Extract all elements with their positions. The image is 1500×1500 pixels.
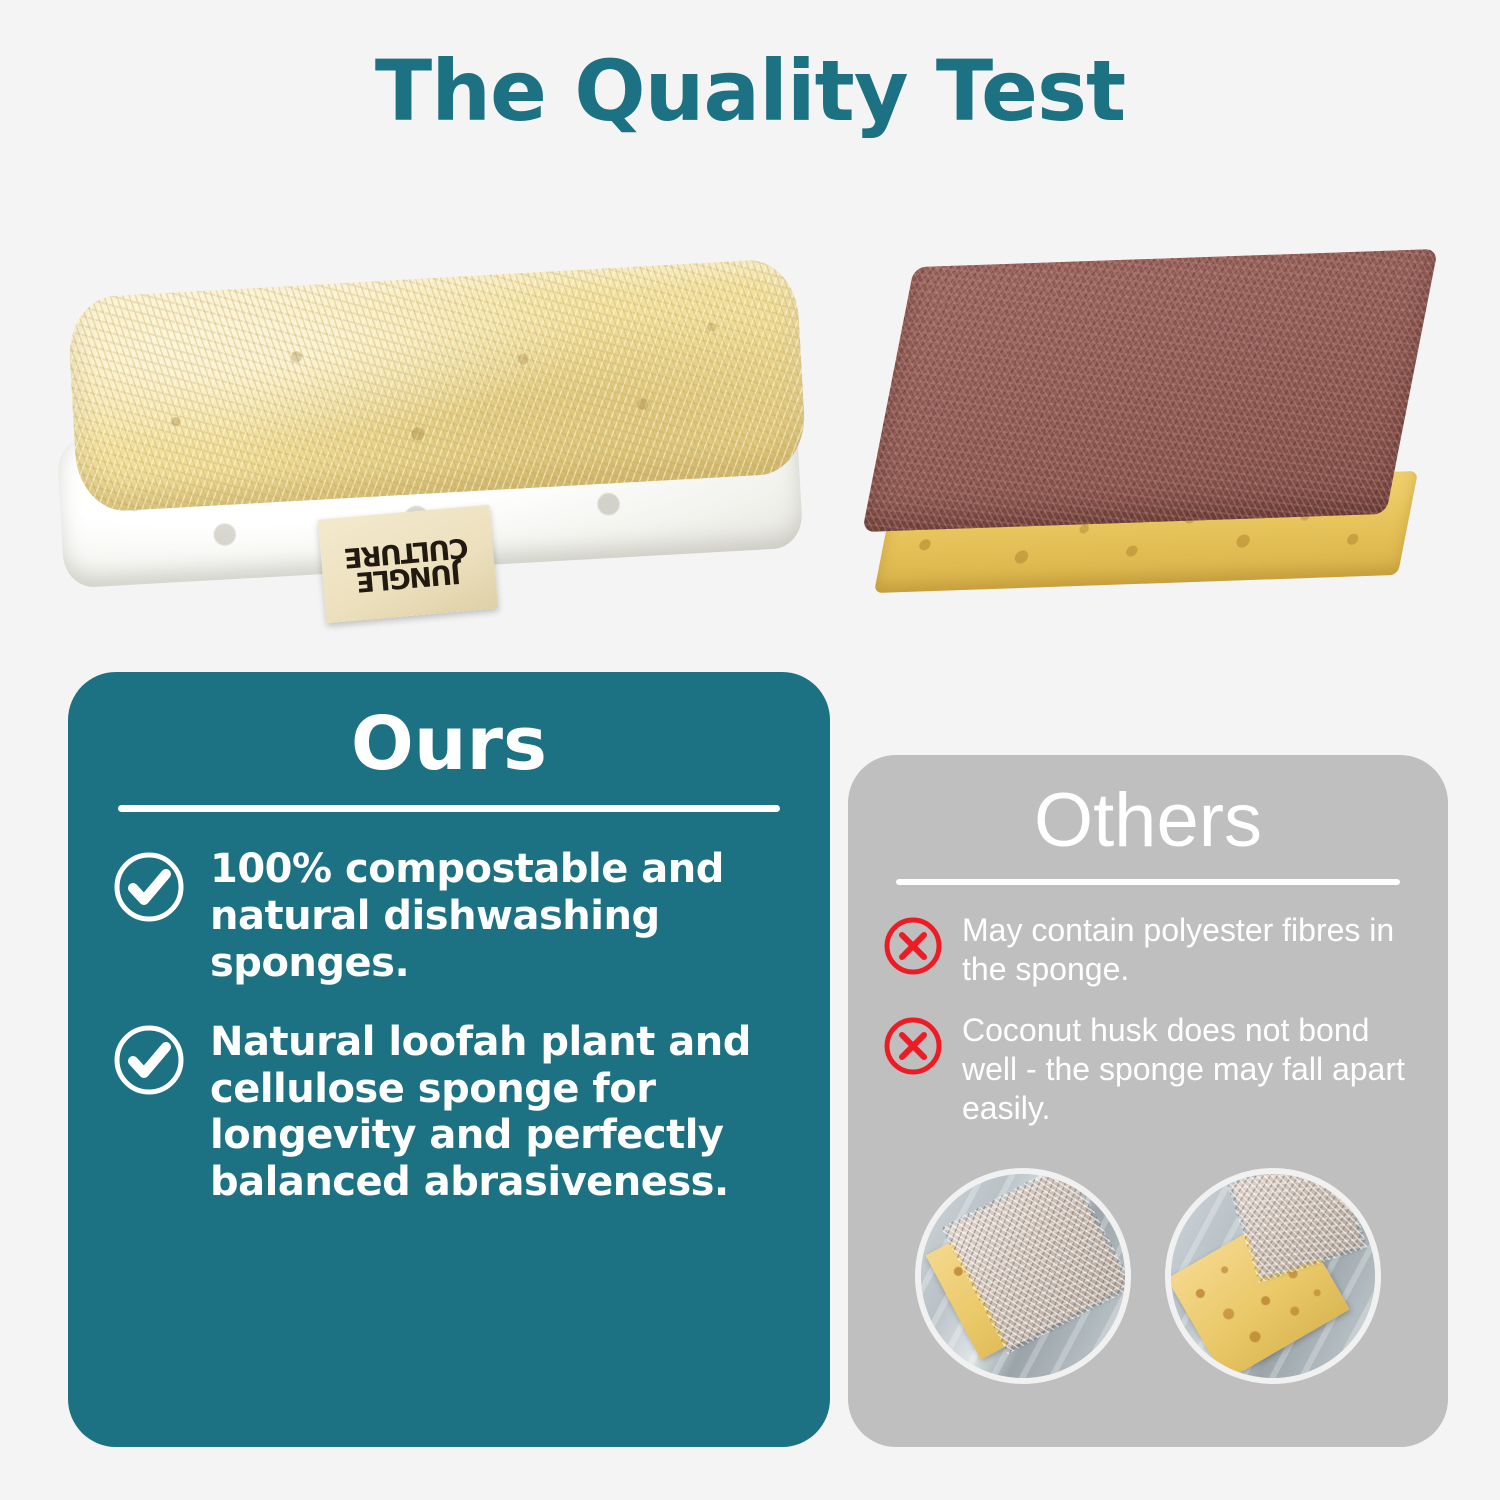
check-circle-icon [112, 850, 186, 924]
x-circle-icon [882, 915, 944, 977]
ours-list-item-text: Natural loofah plant and cellulose spong… [210, 1019, 786, 1206]
x-circle-icon [882, 1015, 944, 1077]
evidence-photo-group [882, 1168, 1414, 1384]
ours-list-item: 100% compostable and natural dishwashing… [112, 846, 786, 986]
ours-panel-divider [118, 805, 780, 812]
ours-panel: Ours 100% compostable and natural dishwa… [68, 672, 830, 1447]
others-panel-divider [896, 879, 1400, 885]
product-comparison-photos: JUNGLE CULTURE VS [0, 210, 1500, 660]
others-panel-heading: Others [882, 781, 1414, 861]
others-list-item-text: May contain polyester fibres in the spon… [962, 911, 1414, 989]
ours-panel-heading: Ours [112, 704, 786, 785]
ours-list-item: Natural loofah plant and cellulose spong… [112, 1019, 786, 1206]
brand-tag: JUNGLE CULTURE [318, 505, 498, 624]
others-list-item-text: Coconut husk does not bond well - the sp… [962, 1011, 1414, 1128]
evidence-photo-1 [915, 1168, 1131, 1384]
brand-tag-text: JUNGLE CULTURE [344, 534, 471, 594]
evidence-photo-2 [1165, 1168, 1381, 1384]
page-title: The Quality Test [0, 42, 1500, 140]
ours-list-item-text: 100% compostable and natural dishwashing… [210, 846, 786, 986]
check-circle-icon [112, 1023, 186, 1097]
others-panel: Others May contain polyester fibres in t… [848, 755, 1448, 1447]
ours-sponge-photo: JUNGLE CULTURE [42, 240, 832, 640]
others-list-item: Coconut husk does not bond well - the sp… [882, 1011, 1414, 1128]
loofah-scrub-layer [67, 258, 808, 513]
coir-scrub-layer [862, 249, 1438, 532]
others-sponge-photo [880, 228, 1440, 628]
others-list-item: May contain polyester fibres in the spon… [882, 911, 1414, 989]
